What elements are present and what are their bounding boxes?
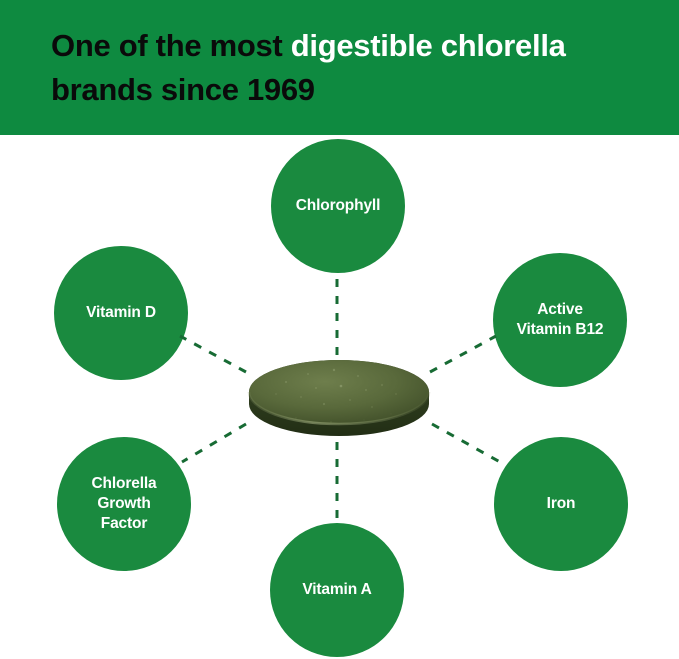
node-chlorella-growth-factor[interactable]: Chlorella Growth Factor xyxy=(57,437,191,571)
node-iron[interactable]: Iron xyxy=(494,437,628,571)
node-chlorophyll[interactable]: Chlorophyll xyxy=(271,139,405,273)
infographic-canvas: One of the most digestible chlorellabran… xyxy=(0,0,679,659)
node-vitamin-a[interactable]: Vitamin A xyxy=(270,523,404,657)
node-vitamin-a-label: Vitamin A xyxy=(274,580,400,600)
node-chlorella-growth-factor-label: Chlorella Growth Factor xyxy=(61,474,187,533)
node-active-vitamin-b12-label: Active Vitamin B12 xyxy=(497,300,623,340)
node-iron-label: Iron xyxy=(498,494,624,514)
node-vitamin-d[interactable]: Vitamin D xyxy=(54,246,188,380)
node-active-vitamin-b12[interactable]: Active Vitamin B12 xyxy=(493,253,627,387)
benefits-diagram: Chlorophyll Active Vitamin B12 Iron Vita… xyxy=(0,0,679,659)
node-chlorophyll-label: Chlorophyll xyxy=(275,196,401,216)
chlorella-tablet xyxy=(246,352,432,442)
chlorella-tablet-illustration xyxy=(246,352,432,442)
node-vitamin-d-label: Vitamin D xyxy=(58,303,184,323)
